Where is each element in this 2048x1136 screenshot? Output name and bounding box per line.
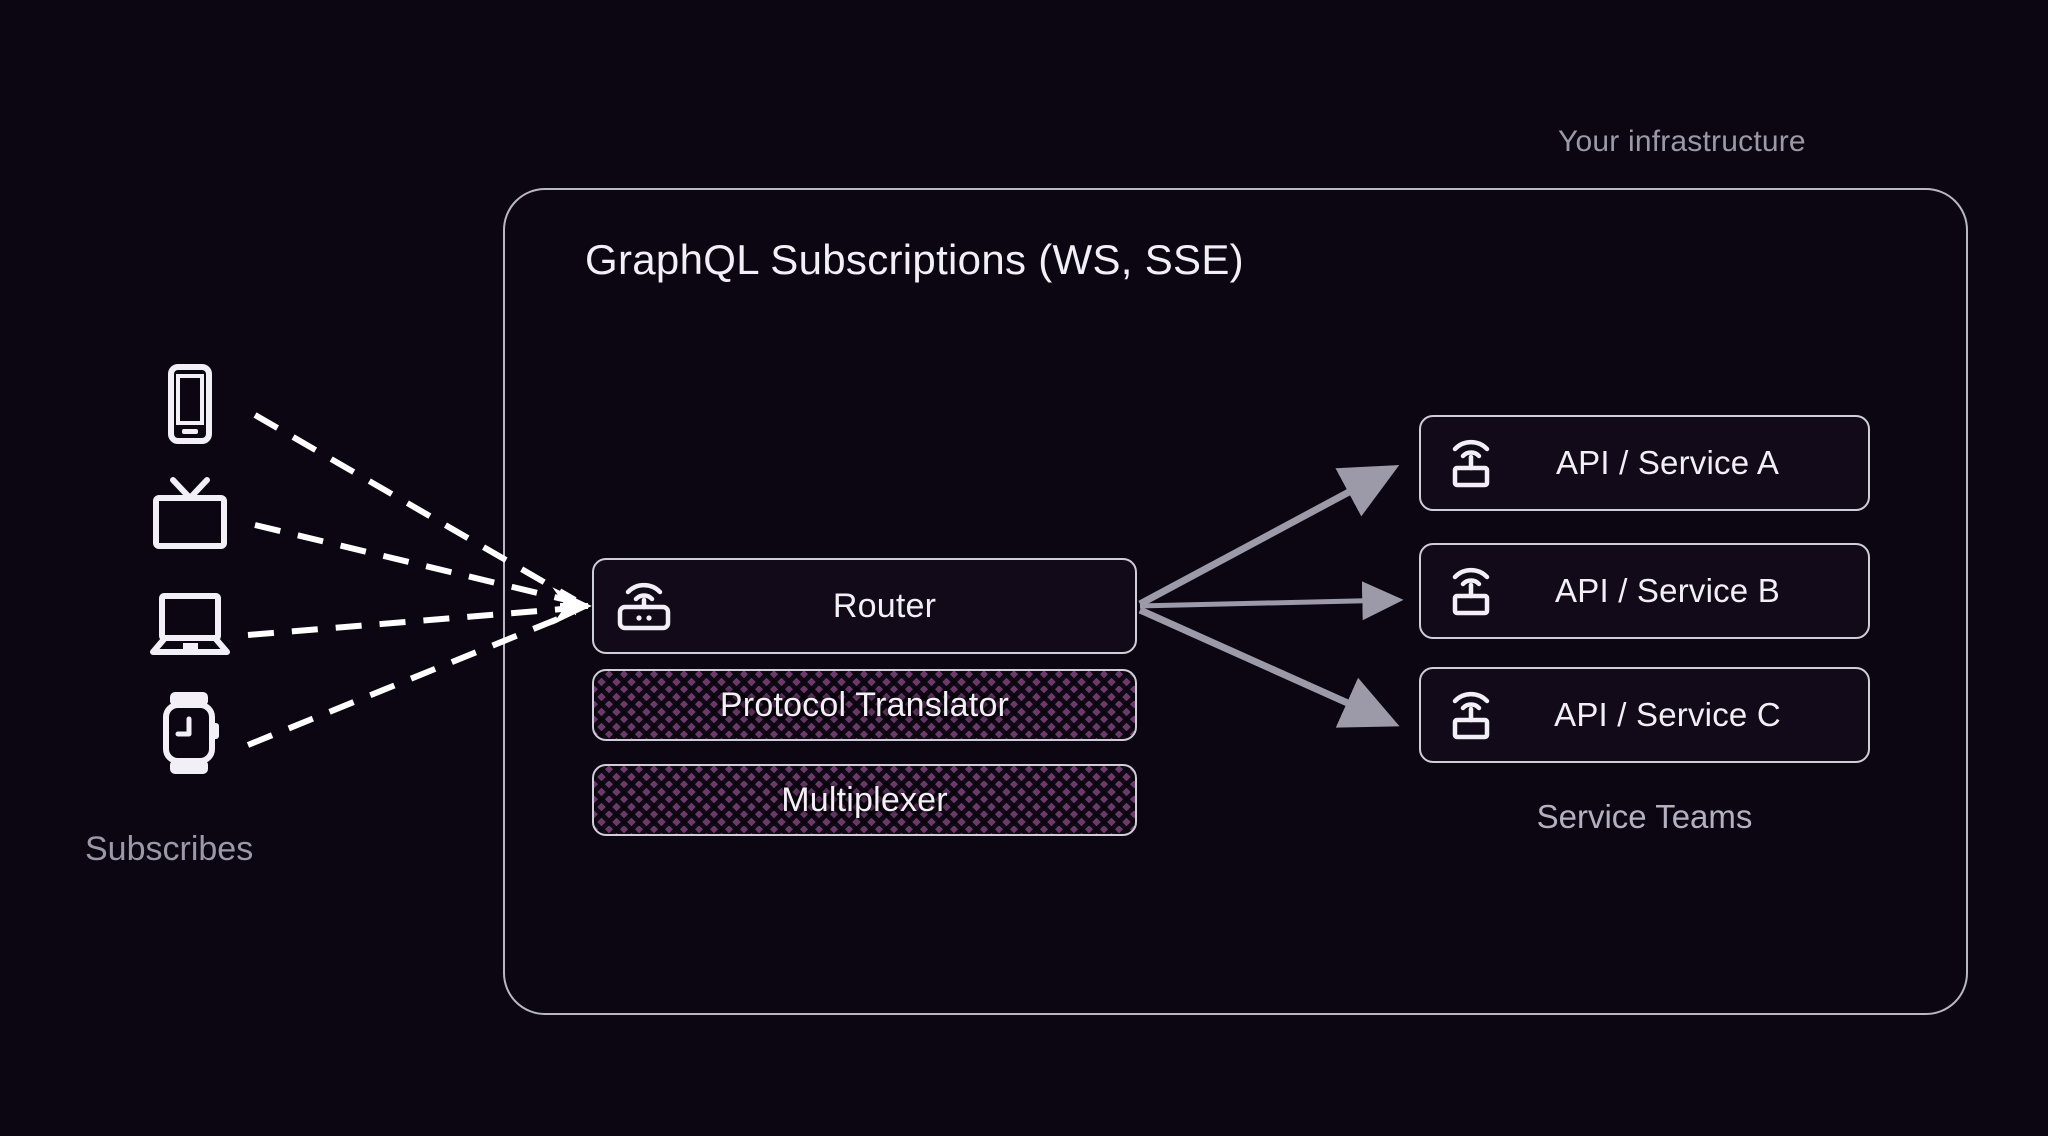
router-label: Router	[594, 587, 1135, 626]
laptop-icon	[145, 580, 235, 670]
smartwatch-icon	[145, 688, 235, 778]
service-teams-label: Service Teams	[1419, 798, 1870, 836]
service-b-node[interactable]: API / Service B	[1419, 543, 1870, 639]
router-node[interactable]: Router	[592, 558, 1137, 654]
television-icon	[145, 470, 235, 560]
protocol-translator-node[interactable]: Protocol Translator	[592, 669, 1137, 741]
wifi-router-icon	[616, 580, 672, 632]
service-c-node[interactable]: API / Service C	[1419, 667, 1870, 763]
wifi-access-point-icon	[1443, 565, 1499, 617]
service-a-node[interactable]: API / Service A	[1419, 415, 1870, 511]
multiplexer-node[interactable]: Multiplexer	[592, 764, 1137, 836]
wifi-access-point-icon	[1443, 437, 1499, 489]
infrastructure-label: Your infrastructure	[1558, 125, 1806, 159]
diagram-canvas: Your infrastructure GraphQL Subscription…	[0, 0, 2048, 1136]
protocol-translator-label: Protocol Translator	[594, 686, 1135, 725]
multiplexer-label: Multiplexer	[594, 781, 1135, 820]
wifi-access-point-icon	[1443, 689, 1499, 741]
diagram-title: GraphQL Subscriptions (WS, SSE)	[585, 236, 1244, 284]
subscribes-label: Subscribes	[85, 830, 253, 869]
smartphone-icon	[145, 360, 235, 450]
subscribers-group	[145, 360, 325, 780]
